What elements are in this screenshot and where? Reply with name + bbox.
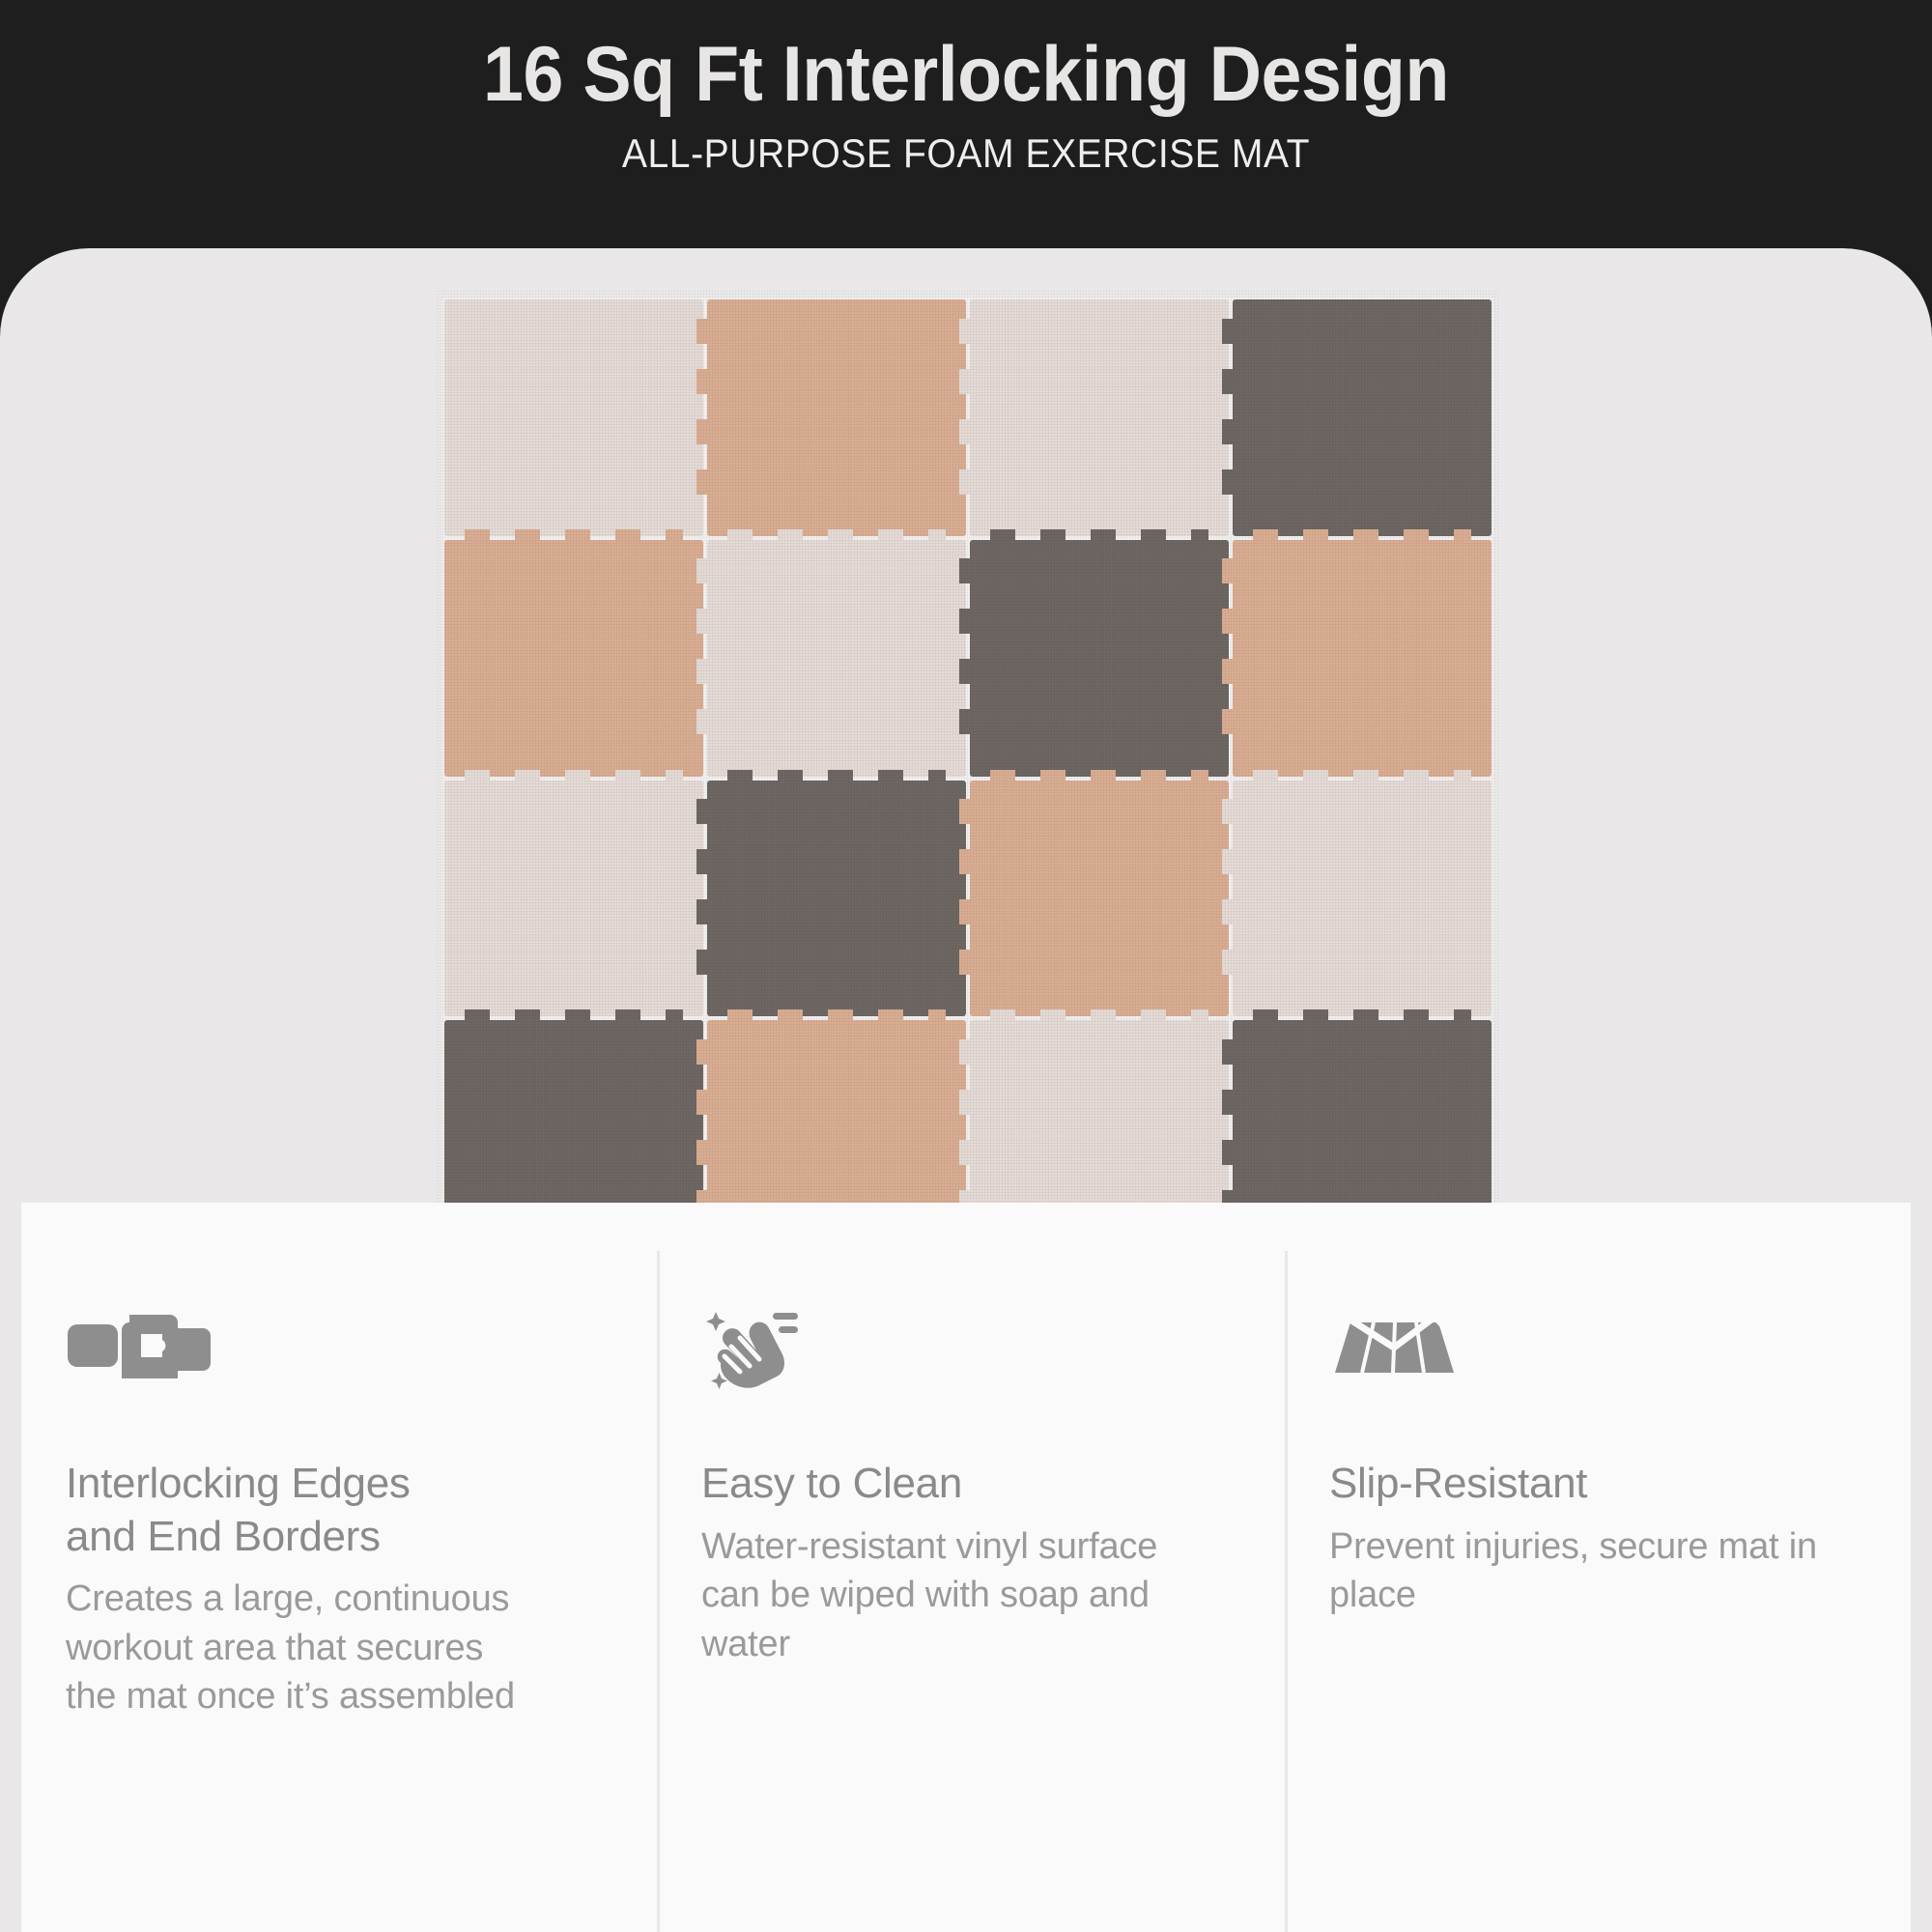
product-image (437, 290, 1499, 1265)
mat-tile-teeth (465, 770, 682, 782)
wiping-hand-sparkle-icon (701, 1309, 1240, 1398)
mat-tile (444, 299, 703, 536)
mat-tile-teeth (1253, 529, 1470, 542)
mat-tile (970, 540, 1229, 777)
interlocking-tiles-icon (66, 1309, 612, 1398)
slip-resistant-mat-arrow-icon (1329, 1309, 1866, 1398)
mat-tile-face (1233, 299, 1492, 536)
mat-tile (707, 299, 966, 536)
mat-tile-teeth (696, 319, 709, 518)
mat-tile-face (1233, 781, 1492, 1017)
feature-body: Creates a large, continuous workout area… (66, 1575, 520, 1721)
mat-tile-teeth (990, 529, 1207, 542)
mat-tile (444, 540, 703, 777)
mat-tile (707, 781, 966, 1017)
mat-tile (970, 781, 1229, 1017)
feature-title-line-1: Interlocking Edges (66, 1460, 411, 1507)
mat-tile (1233, 781, 1492, 1017)
feature-card: Interlocking Edges and End Borders Creat… (21, 1203, 1911, 1932)
mat-tile-face (444, 781, 703, 1017)
mat-tile-face (970, 540, 1229, 777)
mat-tile-teeth (959, 558, 972, 757)
mat-tile-face (1233, 540, 1492, 777)
mat-tile-teeth (1253, 1009, 1470, 1022)
page-title: 16 Sq Ft Interlocking Design (68, 33, 1864, 117)
mat-tile-teeth (959, 319, 972, 518)
page-subtitle: ALL-PURPOSE FOAM EXERCISE MAT (68, 130, 1864, 177)
mat-tile-teeth (1222, 558, 1235, 757)
mat-tile-teeth (727, 1009, 945, 1022)
feature-title-line-2: and End Borders (66, 1513, 381, 1560)
mat-tile-teeth (727, 529, 945, 542)
mat-tile-grid (442, 298, 1493, 1259)
mat-tile-face (707, 781, 966, 1017)
mat-tile-teeth (959, 799, 972, 998)
mat-tile-face (970, 781, 1229, 1017)
mat-tile-teeth (1222, 319, 1235, 518)
mat-tile-teeth (1222, 799, 1235, 998)
mat-tile-teeth (990, 1009, 1207, 1022)
feature-title: Easy to Clean (701, 1458, 1240, 1511)
mat-tile (970, 299, 1229, 536)
feature-title: Interlocking Edges and End Borders (66, 1458, 612, 1563)
infographic-page: 16 Sq Ft Interlocking Design ALL-PURPOSE… (0, 0, 1932, 1932)
mat-tile-teeth (465, 1009, 682, 1022)
mat-tile-teeth (465, 529, 682, 542)
mat-tile-face (444, 299, 703, 536)
mat-tile (444, 781, 703, 1017)
feature-title: Slip-Resistant (1329, 1458, 1866, 1511)
mat-tile-teeth (696, 799, 709, 998)
feature-body: Prevent injuries, secure mat in place (1329, 1522, 1832, 1620)
feature-body: Water-resistant vinyl surface can be wip… (701, 1522, 1204, 1669)
header-banner: 16 Sq Ft Interlocking Design ALL-PURPOSE… (0, 0, 1932, 249)
mat-tile-face (707, 299, 966, 536)
mat-tile (707, 540, 966, 777)
mat-tile (1233, 299, 1492, 536)
mat-tile-teeth (727, 770, 945, 782)
mat-tile-teeth (696, 558, 709, 757)
mat-tile (1233, 540, 1492, 777)
mat-tile-teeth (1253, 770, 1470, 782)
mat-tile-face (970, 299, 1229, 536)
feature-column-easy-to-clean: Easy to Clean Water-resistant vinyl surf… (657, 1203, 1285, 1932)
feature-column-interlocking: Interlocking Edges and End Borders Creat… (21, 1203, 657, 1932)
mat-tile-face (707, 540, 966, 777)
feature-column-slip-resistant: Slip-Resistant Prevent injuries, secure … (1285, 1203, 1911, 1932)
mat-tile-teeth (990, 770, 1207, 782)
mat-tile-face (444, 540, 703, 777)
